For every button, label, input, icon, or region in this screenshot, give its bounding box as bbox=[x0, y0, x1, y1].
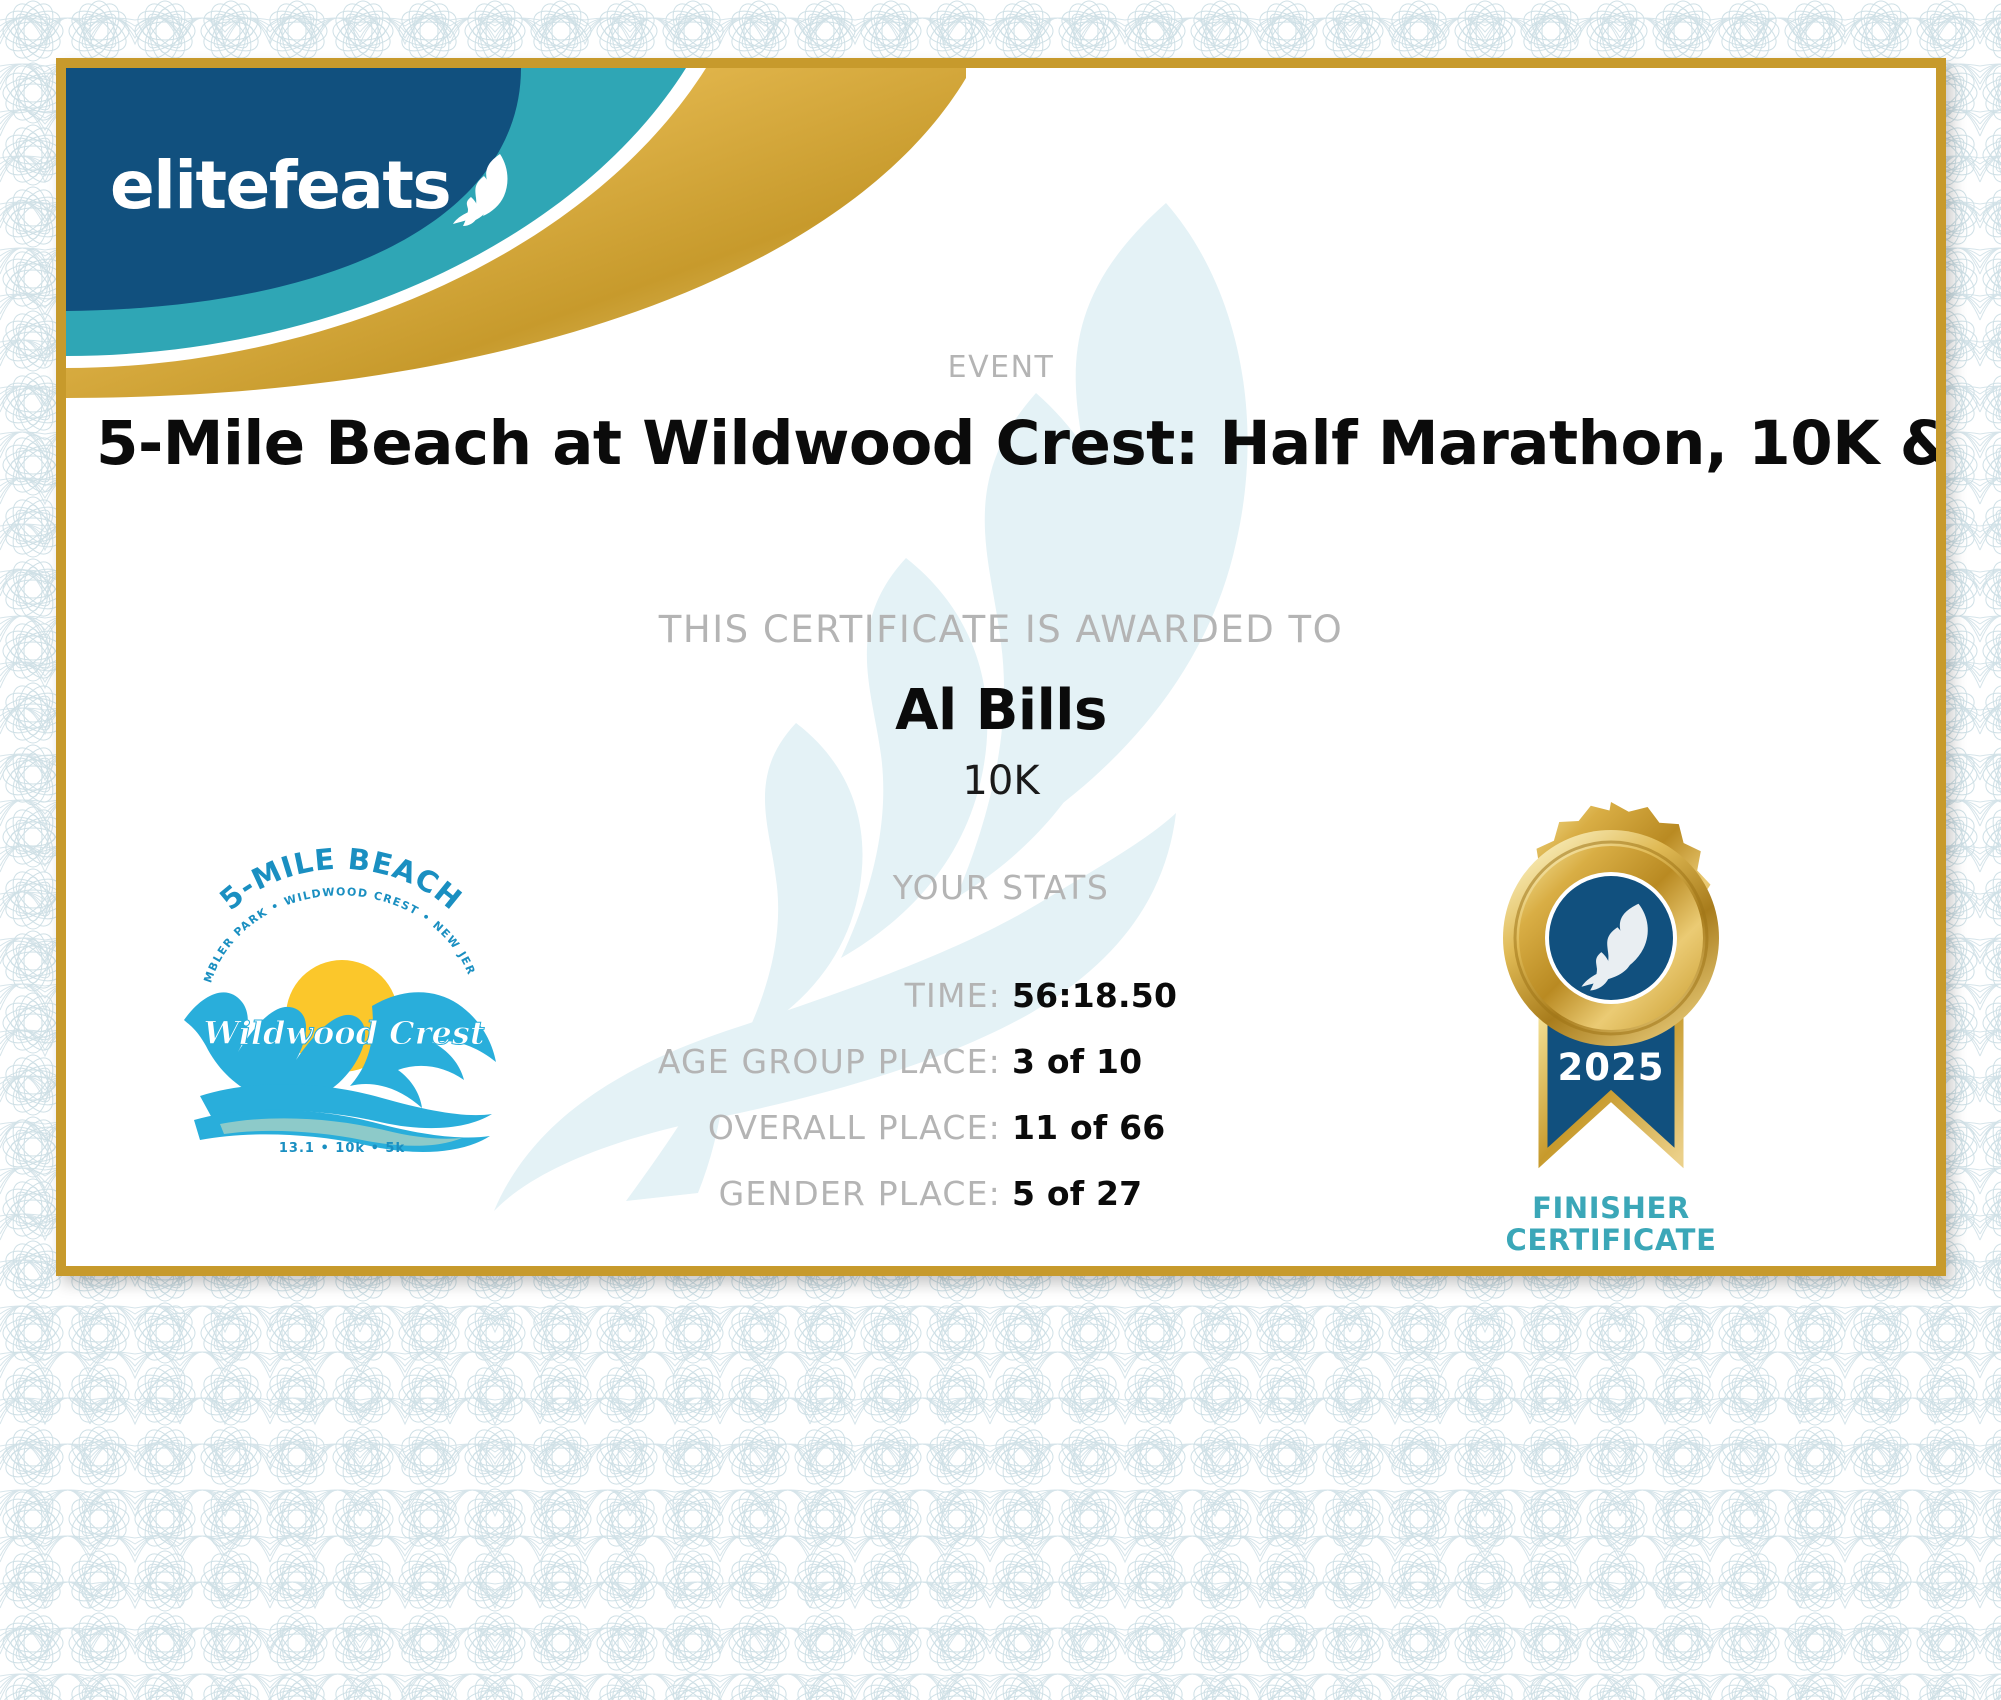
header-swoosh-graphic bbox=[66, 68, 966, 398]
event-logo: Wildwood Crest 5-MILE BEACH RAMBLER PARK… bbox=[176, 838, 506, 1158]
event-logo-script: Wildwood Crest bbox=[203, 1014, 485, 1052]
finisher-caption: FINISHER CERTIFICATE bbox=[1461, 1192, 1761, 1257]
stat-label: TIME: bbox=[441, 963, 1001, 1029]
finisher-badge: 2025 FINISHER CERTIFICATE bbox=[1461, 788, 1761, 1257]
finisher-caption-line2: CERTIFICATE bbox=[1461, 1224, 1761, 1256]
stat-label: OVERALL PLACE: bbox=[441, 1095, 1001, 1161]
badge-year: 2025 bbox=[1558, 1046, 1665, 1089]
recipient-name: Al Bills bbox=[66, 678, 1936, 743]
event-label: EVENT bbox=[66, 350, 1936, 385]
certificate-inner-panel: elitefeats EVENT 5-Mile Beach at Wildwoo… bbox=[66, 68, 1936, 1266]
stat-label: AGE GROUP PLACE: bbox=[441, 1029, 1001, 1095]
event-logo-distances: 13.1 • 10k • 5k bbox=[279, 1141, 405, 1156]
stat-label: GENDER PLACE: bbox=[441, 1161, 1001, 1227]
awarded-to-label: THIS CERTIFICATE IS AWARDED TO bbox=[66, 608, 1936, 651]
finisher-caption-line1: FINISHER bbox=[1532, 1191, 1690, 1225]
certificate-page: elitefeats EVENT 5-Mile Beach at Wildwoo… bbox=[0, 0, 2001, 1700]
brand-name: elitefeats bbox=[110, 153, 450, 219]
event-title: 5-Mile Beach at Wildwood Crest: Half Mar… bbox=[96, 408, 1906, 479]
brand-logo: elitefeats bbox=[110, 146, 516, 226]
award-ribbon-icon: 2025 bbox=[1461, 788, 1761, 1188]
winged-foot-icon bbox=[450, 152, 516, 226]
event-logo-arc-top: 5-MILE BEACH bbox=[213, 842, 469, 917]
certificate-card: elitefeats EVENT 5-Mile Beach at Wildwoo… bbox=[56, 58, 1946, 1276]
